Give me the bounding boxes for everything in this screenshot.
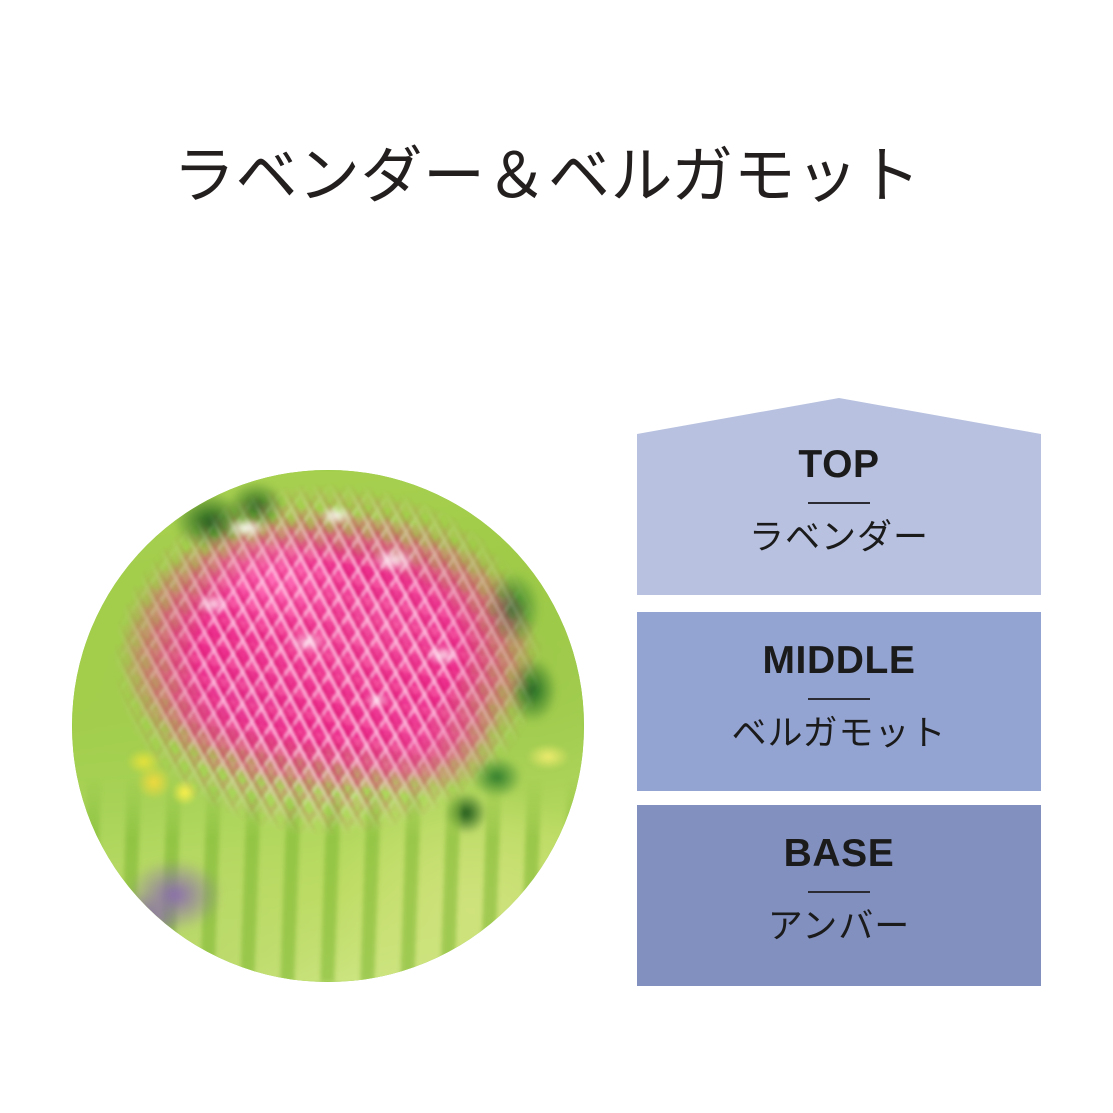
pyramid-band-base-content: BASE アンバー (637, 831, 1041, 949)
pyramid-band-middle-divider (808, 698, 870, 700)
pyramid-band-middle: MIDDLE ベルガモット (637, 612, 1041, 791)
flower-photo (72, 470, 584, 982)
pyramid-band-middle-title: MIDDLE (637, 638, 1041, 684)
pyramid-band-base-subtitle: アンバー (637, 905, 1041, 949)
fragrance-note-graphic: ラベンダー＆ベルガモット TOP ラベンダー MIDDLE ベルガモット (0, 0, 1113, 1113)
pyramid-band-top-subtitle: ラベンダー (637, 516, 1041, 560)
pyramid-band-middle-subtitle: ベルガモット (637, 712, 1041, 756)
pyramid-band-base-divider (808, 891, 870, 893)
page-title: ラベンダー＆ベルガモット (173, 137, 933, 217)
pyramid-band-top: TOP ラベンダー (637, 398, 1041, 595)
pyramid-band-base: BASE アンバー (637, 805, 1041, 986)
pyramid-band-middle-content: MIDDLE ベルガモット (637, 638, 1041, 756)
pyramid-band-top-title: TOP (637, 442, 1041, 488)
photo-vignette (72, 470, 584, 982)
pyramid-band-top-divider (808, 502, 870, 504)
pyramid-band-base-title: BASE (637, 831, 1041, 877)
fragrance-pyramid: TOP ラベンダー MIDDLE ベルガモット BASE アンバー (637, 398, 1041, 986)
pyramid-band-top-content: TOP ラベンダー (637, 442, 1041, 560)
